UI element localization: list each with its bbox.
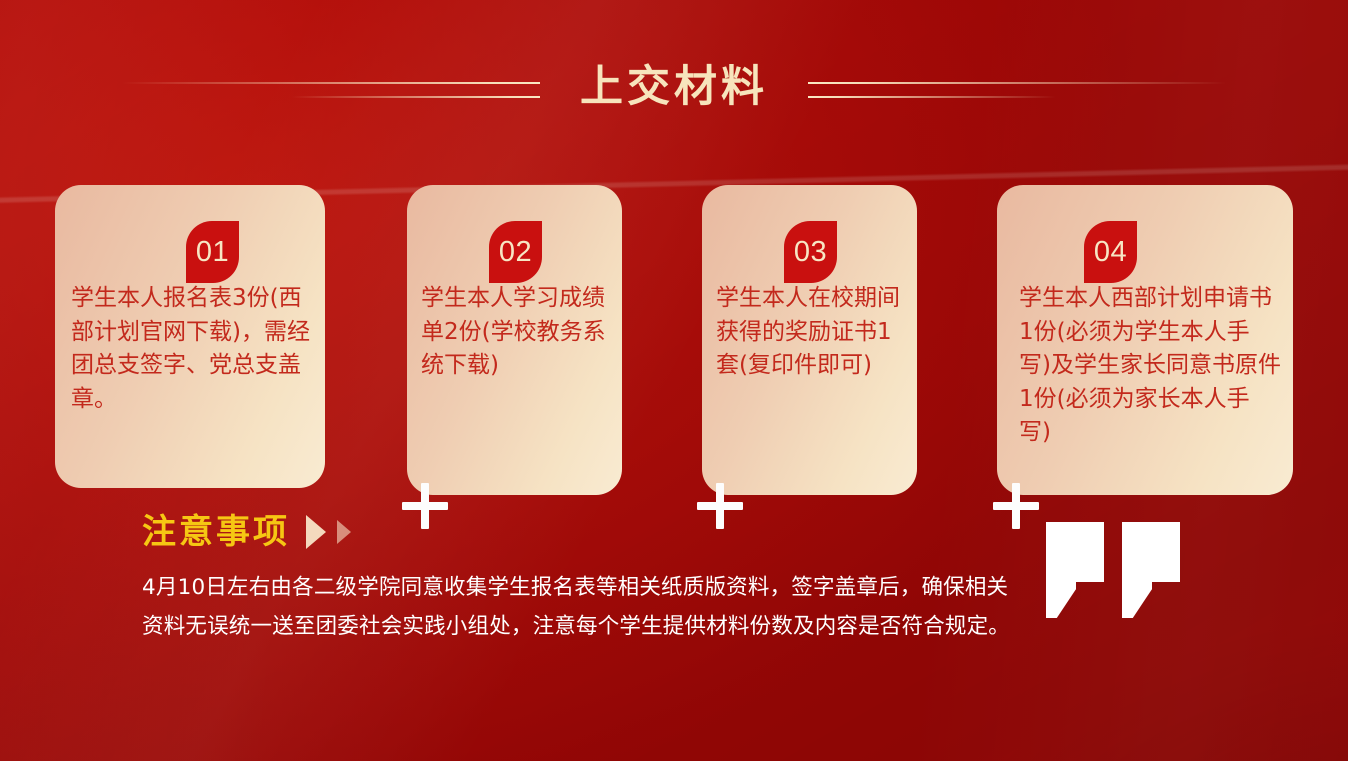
quote-glyph-left xyxy=(1046,522,1104,618)
notice-title: 注意事项 xyxy=(142,515,290,549)
rule-line-top xyxy=(808,82,1226,84)
rule-line-bottom xyxy=(292,96,540,98)
page-title: 上交材料 xyxy=(574,66,774,109)
notice-section: 注意事项 4月10日左右由各二级学院同意收集学生报名表等相关纸质版资料，签字盖章… xyxy=(142,507,1012,647)
notice-body-text: 4月10日左右由各二级学院同意收集学生报名表等相关纸质版资料，签字盖章后，确保相… xyxy=(142,568,1012,647)
notice-header: 注意事项 xyxy=(142,507,1012,557)
close-quote-icon xyxy=(1046,522,1196,618)
decorative-rule-left xyxy=(122,67,574,107)
card-number-badge: 02 xyxy=(489,221,542,283)
card-number-badge: 03 xyxy=(784,221,837,283)
slide-header: 上交材料 xyxy=(0,56,1348,118)
slide-stage: 上交材料 01 学生本人报名表3份(西部计划官网下载)，需经团总支签字、党总支盖… xyxy=(0,0,1348,761)
material-card[interactable]: 03 学生本人在校期间获得的奖励证书1套(复印件即可) xyxy=(702,185,917,495)
material-cards-row: 01 学生本人报名表3份(西部计划官网下载)，需经团总支签字、党总支盖章。 02… xyxy=(55,185,1293,495)
card-text: 学生本人报名表3份(西部计划官网下载)，需经团总支签字、党总支盖章。 xyxy=(71,282,315,416)
card-text: 学生本人学习成绩单2份(学校教务系统下载) xyxy=(421,282,610,383)
quote-glyph-right xyxy=(1122,522,1180,618)
material-card[interactable]: 02 学生本人学习成绩单2份(学校教务系统下载) xyxy=(407,185,622,495)
decorative-rule-right xyxy=(774,67,1226,107)
card-text: 学生本人西部计划申请书1份(必须为学生本人手写)及学生家长同意书原件1份(必须为… xyxy=(1019,282,1281,450)
rule-line-bottom xyxy=(808,96,1056,98)
material-card[interactable]: 01 学生本人报名表3份(西部计划官网下载)，需经团总支签字、党总支盖章。 xyxy=(55,185,325,488)
triangle-right-small-icon xyxy=(337,520,351,544)
rule-line-top xyxy=(122,82,540,84)
triangle-right-icon xyxy=(306,515,326,549)
material-card[interactable]: 04 学生本人西部计划申请书1份(必须为学生本人手写)及学生家长同意书原件1份(… xyxy=(997,185,1293,495)
card-text: 学生本人在校期间获得的奖励证书1套(复印件即可) xyxy=(716,282,905,383)
card-number-badge: 04 xyxy=(1084,221,1137,283)
card-number-badge: 01 xyxy=(186,221,239,283)
